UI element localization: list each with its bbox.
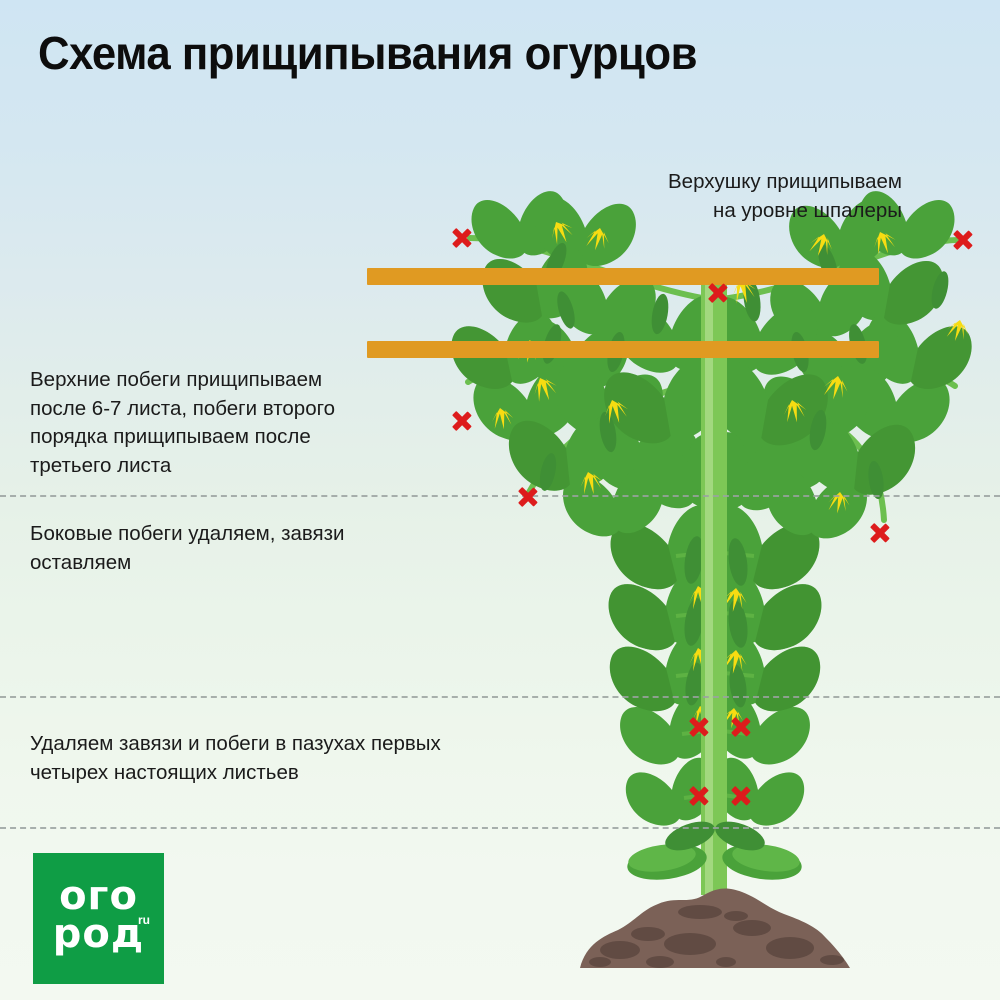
x-mark-remove-right-side-shoot [867, 520, 893, 546]
x-mark-pinch-main-top-at-trellis [705, 280, 731, 306]
x-mark-remove-axil-left-2 [686, 783, 712, 809]
trellis-bar-lower [367, 341, 879, 358]
zone-divider-2 [0, 696, 1000, 698]
soil-mound [580, 889, 850, 968]
x-mark-remove-axil-right-2 [728, 783, 754, 809]
trellis-bar-upper [367, 268, 879, 285]
caption-bottom-axils: Удаляем завязи и побеги в пазухах первых… [30, 730, 550, 787]
infographic-canvas: Схема прищипывания огурцов Верхушку прищ… [0, 0, 1000, 1000]
cucumber-plant-illustration [0, 0, 1000, 1000]
caption-top-pinch: Верхушку прищипываем на уровне шпалеры [612, 168, 902, 225]
caption-side-shoots: Боковые побеги удаляем, завязи оставляем [30, 520, 430, 577]
zone-divider-3 [0, 827, 1000, 829]
x-mark-pinch-left-vine-tip [449, 225, 475, 251]
x-mark-remove-axil-left-1 [686, 714, 712, 740]
logo-superscript-ru: ru [138, 913, 150, 927]
x-mark-remove-axil-right-1 [728, 714, 754, 740]
page-title: Схема прищипывания огурцов [38, 26, 697, 80]
caption-upper-shoots: Верхние побеги прищипываем после 6-7 лис… [30, 366, 430, 480]
zone-divider-1 [0, 495, 1000, 497]
ogorod-logo[interactable]: ого род ru [33, 853, 164, 984]
x-mark-pinch-right-vine-tip [950, 227, 976, 253]
x-mark-pinch-left-upper-shoot [449, 408, 475, 434]
x-mark-remove-left-side-shoot [515, 484, 541, 510]
